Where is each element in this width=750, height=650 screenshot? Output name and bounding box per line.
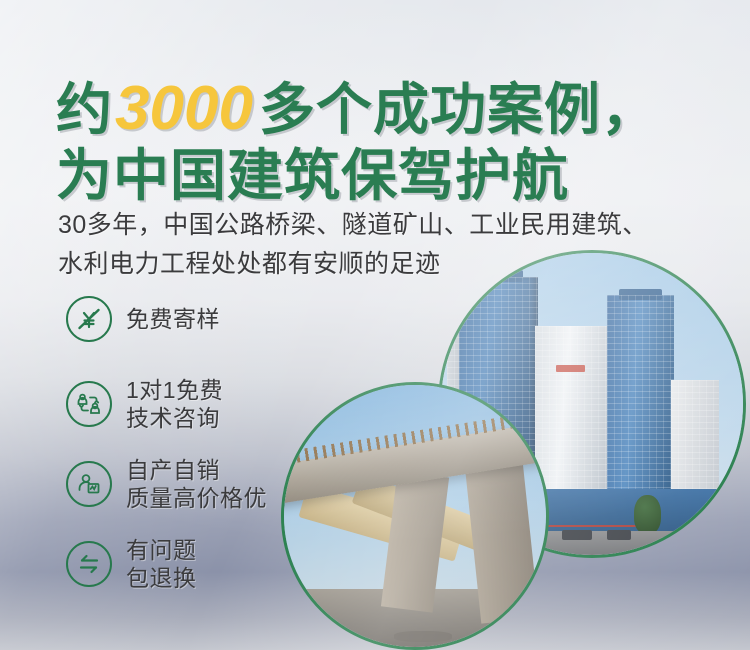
rubble	[310, 631, 357, 641]
feature-item-self-production[interactable]: 自产自销 质量高价格优	[66, 456, 366, 512]
headline: 约3000多个成功案例， 为中国建筑保驾护航	[56, 78, 658, 204]
feature-item-consultation[interactable]: 1对1免费 技术咨询	[66, 376, 366, 432]
feature-line-1: 有问题	[126, 536, 197, 564]
rubble	[394, 631, 452, 641]
feature-line-1: 自产自销	[126, 456, 267, 484]
return-exchange-icon	[66, 541, 112, 587]
headline-number: 3000	[113, 74, 259, 143]
subtitle: 30多年，中国公路桥梁、隧道矿山、工业民用建筑、 水利电力工程处处都有安顺的足迹	[58, 206, 648, 284]
subtitle-line-2: 水利电力工程处处都有安顺的足迹	[58, 245, 648, 284]
feature-line-2: 包退换	[126, 564, 197, 592]
tower-right	[607, 295, 673, 512]
headline-line-2: 为中国建筑保驾护航	[56, 148, 658, 204]
feature-label: 免费寄样	[126, 305, 220, 333]
feature-label: 自产自销 质量高价格优	[126, 456, 267, 512]
rooftop-sign	[556, 365, 585, 372]
car	[607, 530, 631, 540]
subtitle-line-1: 30多年，中国公路桥梁、隧道矿山、工业民用建筑、	[58, 206, 648, 245]
feature-line-1: 免费寄样	[126, 306, 220, 332]
self-production-sales-icon	[66, 461, 112, 507]
headline-line-1: 约3000多个成功案例，	[56, 78, 658, 140]
feature-label: 1对1免费 技术咨询	[126, 376, 223, 432]
headline-suffix: 多个成功案例，	[259, 78, 658, 141]
promo-banner: 约3000多个成功案例， 为中国建筑保驾护航 30多年，中国公路桥梁、隧道矿山、…	[0, 0, 750, 650]
feature-item-free-sample[interactable]: 免费寄样	[66, 296, 366, 342]
feature-label: 有问题 包退换	[126, 536, 197, 592]
feature-line-2: 质量高价格优	[126, 484, 267, 512]
one-on-one-consult-icon	[66, 381, 112, 427]
feature-line-1: 1对1免费	[126, 376, 223, 404]
feature-item-return-exchange[interactable]: 有问题 包退换	[66, 536, 366, 592]
no-fee-yuan-icon	[66, 296, 112, 342]
headline-prefix: 约	[56, 78, 113, 141]
tree	[634, 495, 661, 534]
feature-list: 免费寄样 1对1免费 技术咨询	[66, 296, 366, 592]
car	[562, 530, 592, 540]
feature-line-2: 技术咨询	[126, 404, 223, 432]
